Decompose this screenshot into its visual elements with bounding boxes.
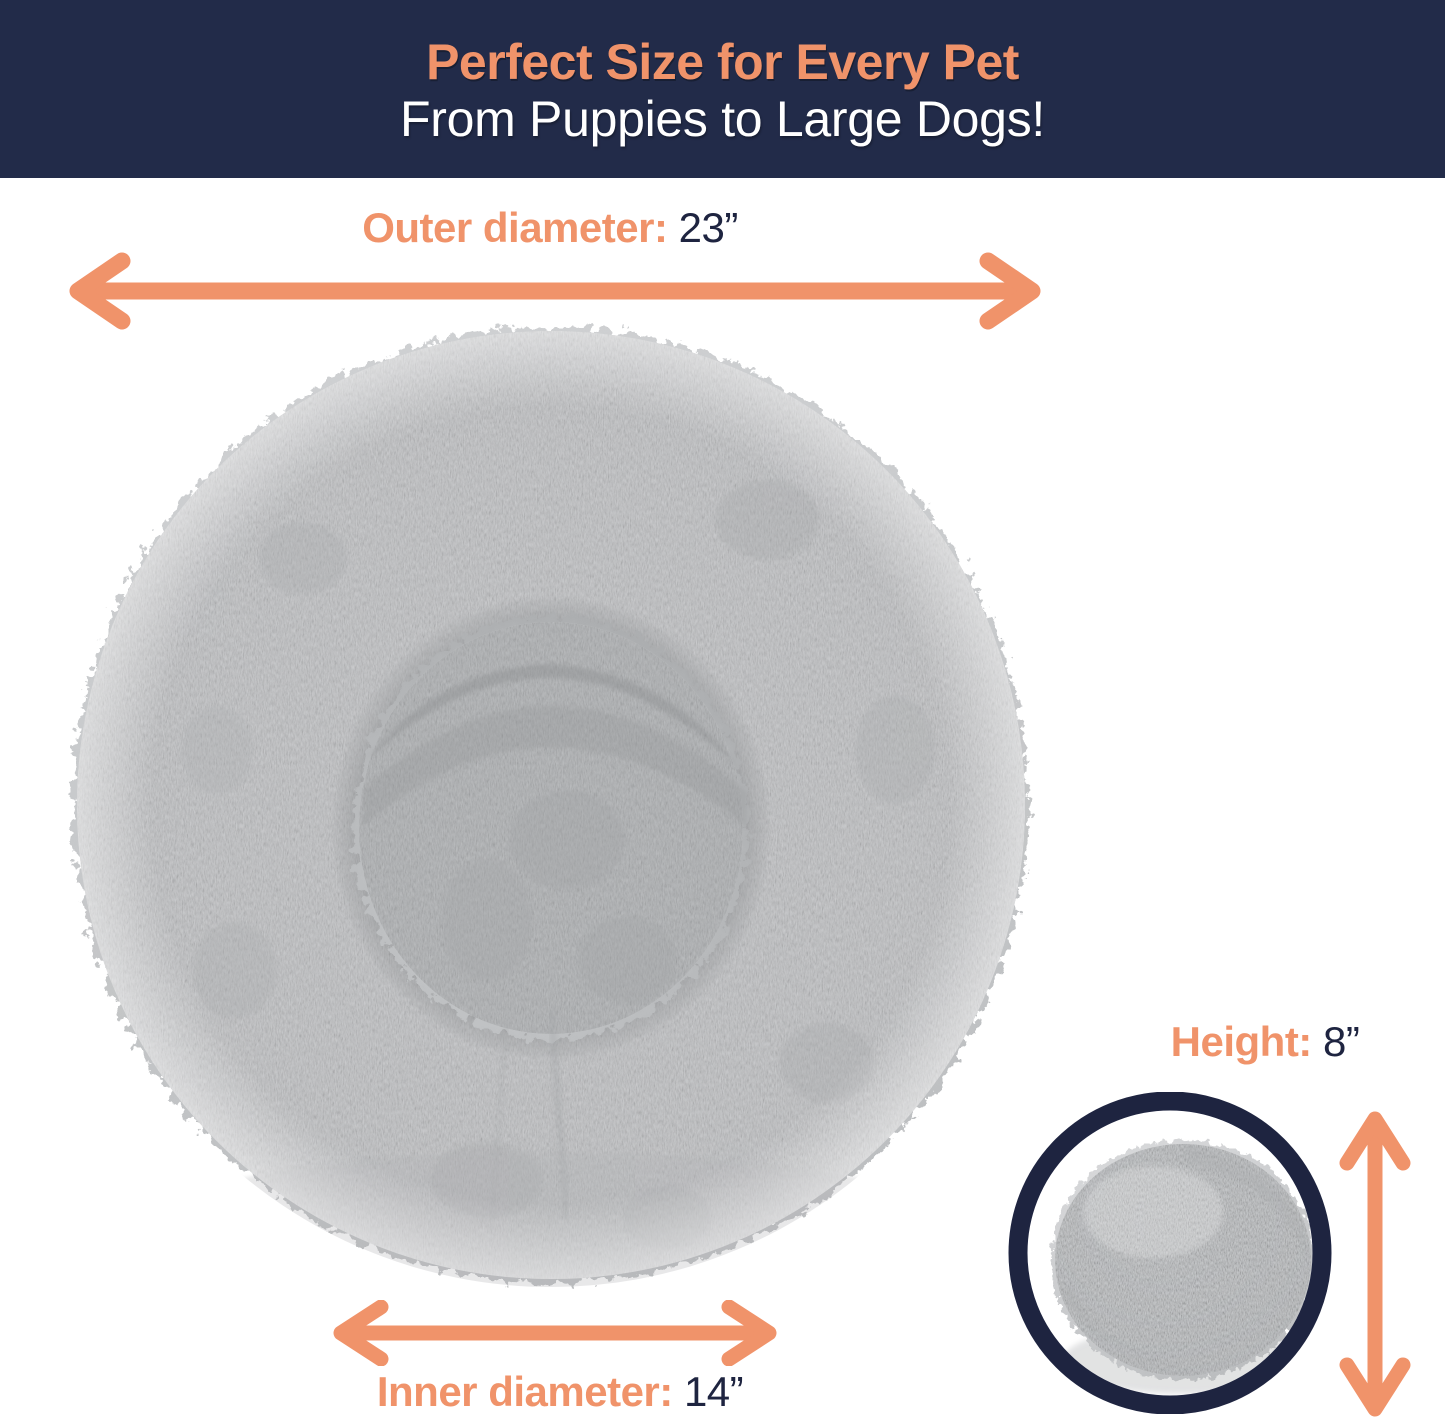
inner-diameter-arrow: [325, 1300, 785, 1366]
headline: Perfect Size for Every Pet: [426, 35, 1019, 89]
height-arrow: [1335, 1105, 1415, 1421]
height-value: 8”: [1323, 1018, 1359, 1065]
inner-diameter-label: Inner diameter: 14”: [270, 1368, 850, 1416]
inner-diameter-label-text: Inner diameter:: [377, 1368, 673, 1415]
pet-bed-side-view-inset: [1003, 1092, 1337, 1414]
height-label-text: Height:: [1171, 1018, 1312, 1065]
outer-diameter-arrow: [60, 252, 1050, 330]
inner-diameter-value: 14”: [684, 1368, 743, 1415]
subheadline: From Puppies to Large Dogs!: [400, 91, 1045, 147]
outer-diameter-value: 23”: [679, 204, 738, 251]
pet-bed-top-view: [67, 320, 1035, 1290]
outer-diameter-label: Outer diameter: 23”: [0, 204, 1100, 252]
height-label: Height: 8”: [1110, 1018, 1420, 1066]
header-banner: Perfect Size for Every Pet From Puppies …: [0, 0, 1445, 178]
product-size-infographic: Perfect Size for Every Pet From Puppies …: [0, 0, 1445, 1421]
outer-diameter-label-text: Outer diameter:: [362, 204, 667, 251]
